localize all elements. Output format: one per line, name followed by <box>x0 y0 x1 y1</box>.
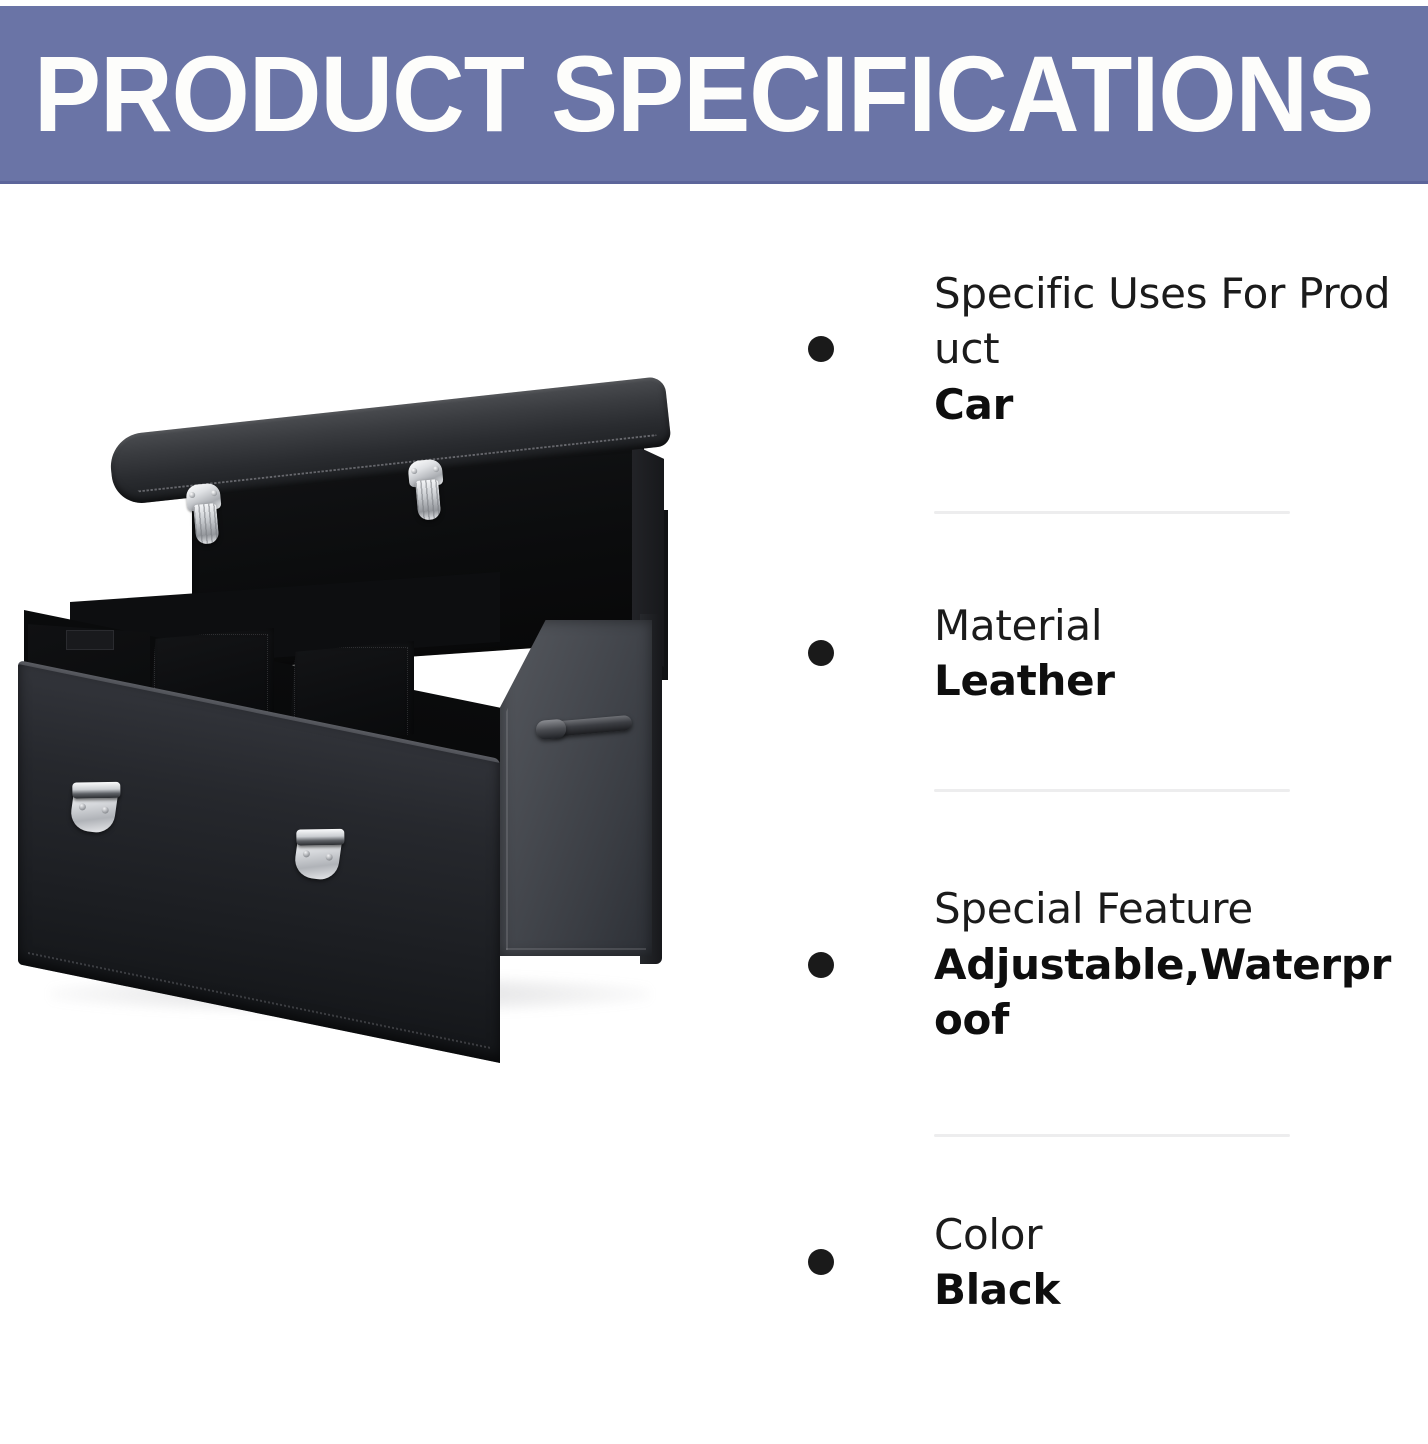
spec-item-color: Color Black <box>770 1137 1428 1387</box>
spec-item-specific-uses: Specific Uses For Product Car <box>770 184 1428 514</box>
bullet-icon <box>808 952 834 978</box>
bullet-icon <box>808 336 834 362</box>
spec-label: Special Feature <box>934 881 1412 936</box>
specifications-list: Specific Uses For Product Car Material L… <box>770 184 1428 1387</box>
spec-item-material: Material Leather <box>770 514 1428 792</box>
interior-wall-tab <box>66 630 114 650</box>
front-latch-left-icon <box>69 779 120 835</box>
bullet-icon <box>808 1249 834 1275</box>
spec-text-block: Material Leather <box>934 598 1428 709</box>
spec-item-special-feature: Special Feature Adjustable,Waterproof <box>770 792 1428 1137</box>
lid-clasp-right-hook <box>415 479 441 521</box>
lid-clasp-right-icon <box>407 459 446 524</box>
front-latch-right-bar <box>296 829 344 846</box>
spec-text-block: Special Feature Adjustable,Waterproof <box>934 881 1428 1047</box>
product-specifications-page: PRODUCT SPECIFICATIONS <box>0 0 1428 1444</box>
spec-value: Adjustable,Waterproof <box>934 937 1412 1048</box>
front-latch-right-icon <box>293 826 344 882</box>
spec-value: Car <box>934 377 1412 432</box>
product-photo <box>10 414 710 1054</box>
page-header-banner: PRODUCT SPECIFICATIONS <box>0 6 1428 184</box>
spec-label: Color <box>934 1207 1412 1262</box>
product-image-pane <box>0 184 770 1444</box>
spec-value: Black <box>934 1262 1412 1317</box>
lid-clasp-left-icon <box>185 483 224 548</box>
lid-clasp-left-hook <box>193 503 219 545</box>
side-handle-grip <box>535 719 567 741</box>
spec-text-block: Color Black <box>934 1207 1428 1318</box>
spec-label: Specific Uses For Product <box>934 266 1412 377</box>
box-side-stitching <box>506 628 646 950</box>
spec-value: Leather <box>934 653 1412 708</box>
page-body: Specific Uses For Product Car Material L… <box>0 184 1428 1444</box>
front-latch-left-bar <box>72 782 120 799</box>
specifications-pane: Specific Uses For Product Car Material L… <box>770 184 1428 1444</box>
spec-text-block: Specific Uses For Product Car <box>934 266 1428 432</box>
bullet-icon <box>808 640 834 666</box>
page-title: PRODUCT SPECIFICATIONS <box>34 40 1373 148</box>
spec-label: Material <box>934 598 1412 653</box>
